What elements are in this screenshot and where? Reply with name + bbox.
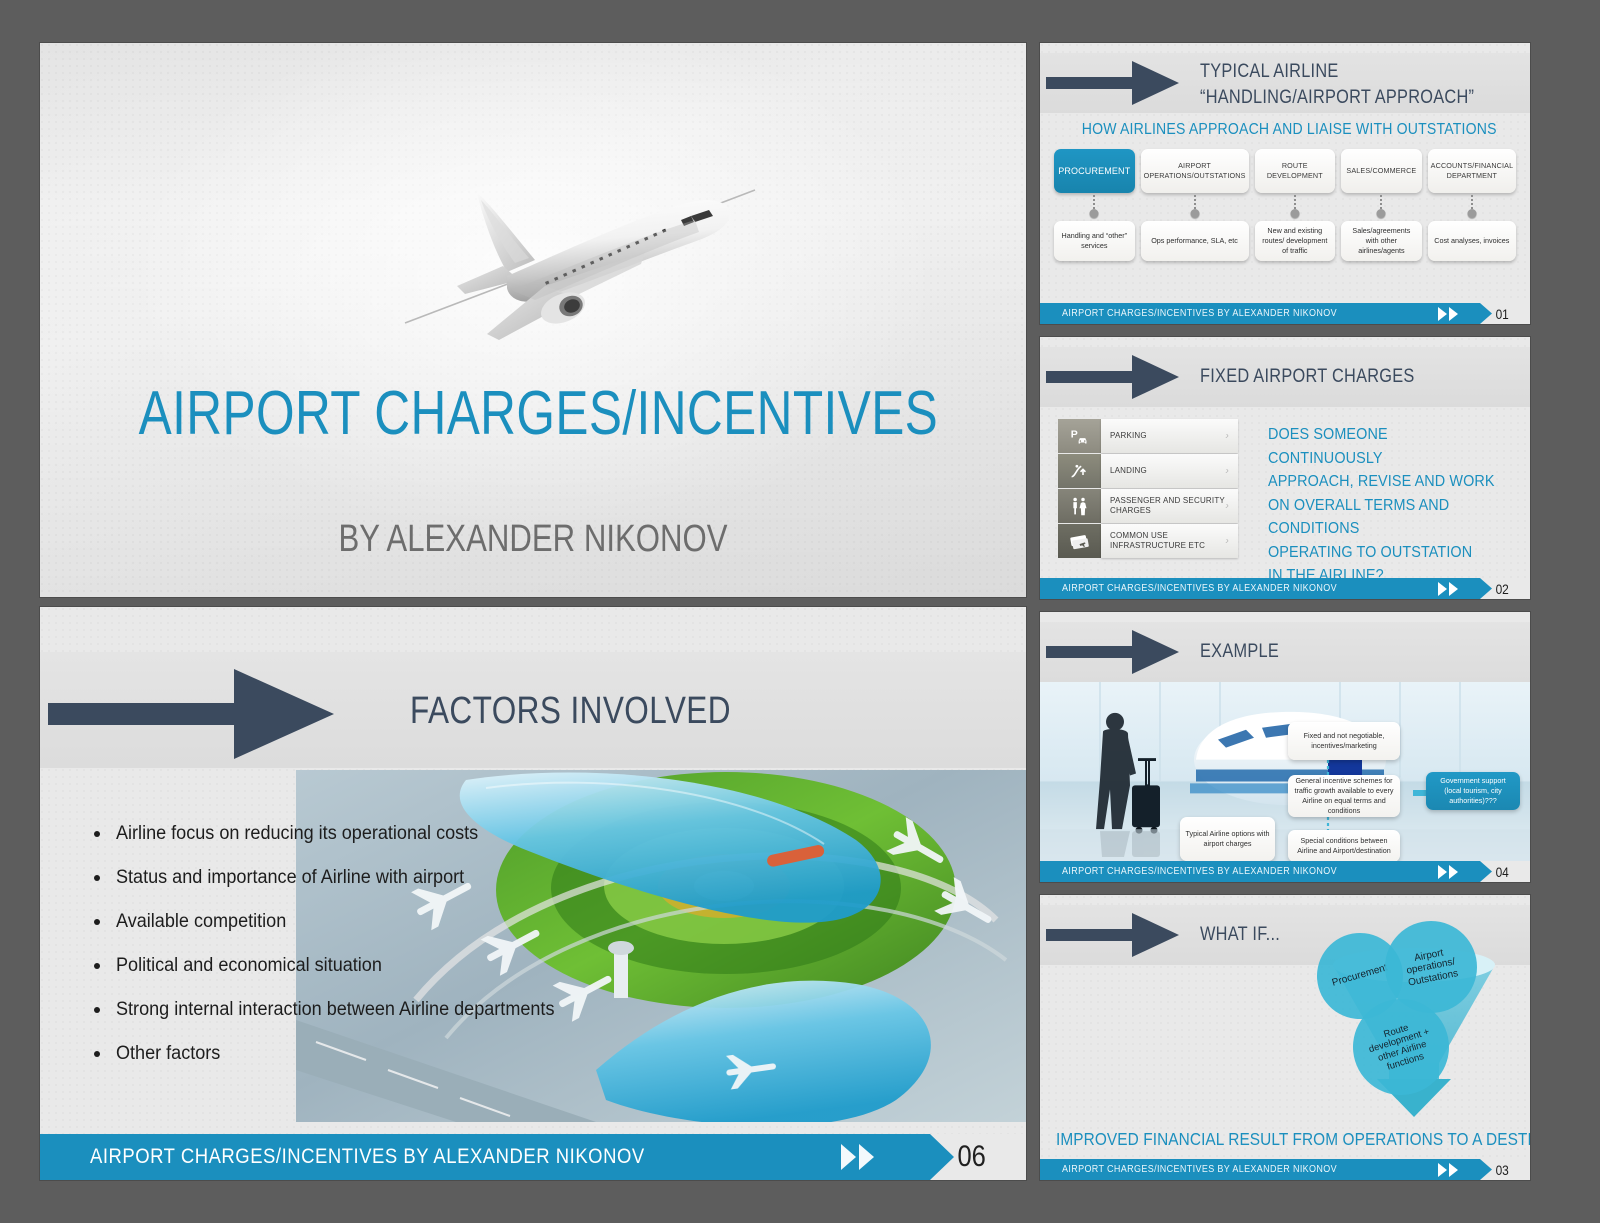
list-item: Available competition — [58, 900, 578, 944]
chevron-right-icon — [841, 1144, 874, 1170]
funnel-diagram: Procurement Airport operations/ Outstati… — [1305, 921, 1520, 1121]
dotted-connector-icon — [1428, 193, 1516, 221]
page-title: WHAT IF... — [1200, 922, 1280, 948]
flow-box-secondary[interactable]: New and existing routes/ development of … — [1255, 221, 1336, 261]
arrow-right-icon — [1046, 630, 1181, 674]
example-box-special-conditions[interactable]: Special conditions between Airline and A… — [1288, 830, 1400, 862]
flow-box-primary[interactable]: SALES/COMMERCE — [1341, 149, 1422, 193]
footer-title: AIRPORT CHARGES/INCENTIVES BY ALEXANDER … — [1062, 1164, 1337, 1175]
page-title-line2: “HANDLING/AIRPORT APPROACH” — [1200, 85, 1474, 111]
example-box-general-incentive[interactable]: General incentive schemes for traffic gr… — [1288, 775, 1400, 817]
list-item-label: Strong internal interaction between Airl… — [116, 999, 554, 1021]
question-line: DOES SOMEONE CONTINUOUSLY — [1268, 423, 1502, 470]
airplane-illustration — [395, 148, 765, 363]
slide-example[interactable]: EXAMPLE Typical Airline options with air… — [1040, 612, 1530, 882]
slide-footer: AIRPORT CHARGES/INCENTIVES BY ALEXANDER … — [1040, 578, 1530, 599]
example-box-typical[interactable]: Typical Airline options with airport cha… — [1180, 817, 1275, 861]
dotted-connector-icon — [1054, 193, 1135, 221]
slide-title[interactable]: AIRPORT CHARGES/INCENTIVES BY ALEXANDER … — [40, 43, 1026, 597]
list-item-label: LANDING — [1110, 466, 1147, 476]
flow-box-secondary[interactable]: Sales/agreements with other airlines/age… — [1341, 221, 1422, 261]
slide-number-badge: 02 — [1468, 578, 1530, 599]
bullet-dot-icon — [94, 1051, 100, 1057]
factors-bullet-list: Airline focus on reducing its operationa… — [58, 812, 578, 1076]
footer-title: AIRPORT CHARGES/INCENTIVES BY ALEXANDER … — [90, 1145, 645, 1169]
slide-what-if[interactable]: WHAT IF... Procurement Airport — [1040, 895, 1530, 1180]
list-item-label: Other factors — [116, 1043, 220, 1065]
dotted-connector-icon — [1341, 193, 1422, 221]
footer-title: AIRPORT CHARGES/INCENTIVES BY ALEXANDER … — [1062, 583, 1337, 594]
question-line: APPROACH, REVISE AND WORK — [1268, 470, 1502, 494]
section-subtitle: HOW AIRLINES APPROACH AND LIAISE WITH OU… — [1082, 121, 1489, 139]
page-title-line1: TYPICAL AIRLINE — [1200, 59, 1474, 85]
arrow-right-icon — [1046, 355, 1181, 399]
slide-number-badge: 01 — [1468, 303, 1530, 324]
example-box-government-support[interactable]: Government support (local tourism, city … — [1426, 772, 1520, 810]
bullet-dot-icon — [94, 831, 100, 837]
slide-footer: AIRPORT CHARGES/INCENTIVES BY ALEXANDER … — [1040, 861, 1530, 882]
arrow-right-icon — [1046, 61, 1181, 105]
slide-typical-airline[interactable]: TYPICAL AIRLINE “HANDLING/AIRPORT APPROA… — [1040, 43, 1530, 324]
list-item-label: Political and economical situation — [116, 955, 382, 977]
slide-factors-involved[interactable]: FACTORS INVOLVED Airline focus on reduci… — [40, 607, 1026, 1180]
presentation-author: BY ALEXANDER NIKONOV — [129, 518, 938, 561]
dotted-connector-icon — [1255, 193, 1336, 221]
list-item: Airline focus on reducing its operationa… — [58, 812, 578, 856]
dotted-connector-icon — [1141, 193, 1249, 221]
list-item[interactable]: PASSENGER AND SECURITY CHARGES › — [1058, 489, 1238, 523]
chevron-right-icon — [1438, 582, 1458, 596]
result-statement: IMPROVED FINANCIAL RESULT FROM OPERATION… — [1056, 1129, 1461, 1150]
flow-box-primary[interactable]: ACCOUNTS/FINANCIAL DEPARTMENT — [1428, 149, 1516, 193]
question-line: OPERATING TO OUTSTATION — [1268, 541, 1502, 565]
svg-text:P: P — [1071, 428, 1078, 440]
question-text: DOES SOMEONE CONTINUOUSLY APPROACH, REVI… — [1268, 423, 1502, 588]
list-item[interactable]: P PARKING › — [1058, 419, 1238, 453]
flow-column: SALES/COMMERCE Sales/agreements with oth… — [1341, 149, 1422, 261]
flow-box-primary[interactable]: AIRPORT OPERATIONS/OUTSTATIONS — [1141, 149, 1249, 193]
list-item-label: Available competition — [116, 911, 286, 933]
presentation-title: AIRPORT CHARGES/INCENTIVES — [139, 378, 928, 449]
flow-column: PROCUREMENT Handling and “other” service… — [1054, 149, 1135, 261]
list-item: Political and economical situation — [58, 944, 578, 988]
boarding-pass-icon — [1058, 524, 1101, 558]
page-title: EXAMPLE — [1200, 639, 1279, 665]
flow-column: ROUTE DEVELOPMENT New and existing route… — [1255, 149, 1336, 261]
list-item-label: PASSENGER AND SECURITY CHARGES — [1110, 496, 1238, 517]
question-line: ON OVERALL TERMS AND CONDITIONS — [1268, 494, 1502, 541]
arrow-right-icon — [48, 669, 338, 759]
list-item: Other factors — [58, 1032, 578, 1076]
slide-number-badge: 06 — [906, 1134, 1026, 1180]
escalator-icon — [1058, 454, 1101, 488]
slide-number: 03 — [1489, 1162, 1509, 1178]
charges-menu-list: P PARKING › — [1058, 419, 1238, 559]
slide-footer: AIRPORT CHARGES/INCENTIVES BY ALEXANDER … — [1040, 1159, 1530, 1180]
list-item-label: Status and importance of Airline with ai… — [116, 867, 464, 889]
footer-title: AIRPORT CHARGES/INCENTIVES BY ALEXANDER … — [1062, 866, 1337, 877]
list-item: Strong internal interaction between Airl… — [58, 988, 578, 1032]
chevron-right-icon: › — [1225, 465, 1229, 478]
slide-number: 02 — [1489, 581, 1509, 597]
example-box-fixed[interactable]: Fixed and not negotiable, incentives/mar… — [1288, 722, 1400, 760]
list-item[interactable]: LANDING › — [1058, 454, 1238, 488]
chevron-right-icon: › — [1225, 430, 1229, 443]
chevron-right-icon — [1438, 865, 1458, 879]
list-item-label-wrap: COMMON USE INFRASTRUCTURE ETC › — [1101, 524, 1238, 558]
parking-car-icon: P — [1058, 419, 1101, 453]
slide-number-badge: 03 — [1468, 1159, 1530, 1180]
flow-box-secondary[interactable]: Cost analyses, invoices — [1428, 221, 1516, 261]
list-item-label: PARKING — [1110, 431, 1147, 441]
page-title: FIXED AIRPORT CHARGES — [1200, 364, 1415, 390]
page-title: TYPICAL AIRLINE “HANDLING/AIRPORT APPROA… — [1200, 59, 1474, 110]
list-item[interactable]: COMMON USE INFRASTRUCTURE ETC › — [1058, 524, 1238, 558]
flow-box-primary[interactable]: PROCUREMENT — [1054, 149, 1135, 193]
bullet-dot-icon — [94, 875, 100, 881]
restroom-people-icon — [1058, 489, 1101, 523]
flow-column: ACCOUNTS/FINANCIAL DEPARTMENT Cost analy… — [1428, 149, 1516, 261]
bullet-dot-icon — [94, 963, 100, 969]
list-item-label-wrap: PARKING › — [1101, 419, 1238, 453]
page-title: FACTORS INVOLVED — [410, 690, 731, 733]
flow-box-secondary[interactable]: Ops performance, SLA, etc — [1141, 221, 1249, 261]
list-item-label: Airline focus on reducing its operationa… — [116, 823, 478, 845]
list-item-label: COMMON USE INFRASTRUCTURE ETC — [1110, 531, 1238, 552]
flow-box-primary[interactable]: ROUTE DEVELOPMENT — [1255, 149, 1336, 193]
flow-box-secondary[interactable]: Handling and “other” services — [1054, 221, 1135, 261]
list-item-label-wrap: LANDING › — [1101, 454, 1238, 488]
slide-deck-overview: AIRPORT CHARGES/INCENTIVES BY ALEXANDER … — [0, 0, 1600, 1223]
bullet-dot-icon — [94, 919, 100, 925]
slide-footer: AIRPORT CHARGES/INCENTIVES BY ALEXANDER … — [1040, 303, 1530, 324]
list-item-label-wrap: PASSENGER AND SECURITY CHARGES › — [1101, 489, 1238, 523]
chevron-right-icon: › — [1225, 535, 1229, 548]
slide-number: 04 — [1489, 864, 1509, 880]
bullet-dot-icon — [94, 1007, 100, 1013]
slide-footer: AIRPORT CHARGES/INCENTIVES BY ALEXANDER … — [40, 1134, 1026, 1180]
slide-number: 06 — [946, 1140, 986, 1174]
footer-title: AIRPORT CHARGES/INCENTIVES BY ALEXANDER … — [1062, 308, 1337, 319]
slide-fixed-airport-charges[interactable]: FIXED AIRPORT CHARGES P PARKING › — [1040, 337, 1530, 599]
flow-column: AIRPORT OPERATIONS/OUTSTATIONS Ops perfo… — [1141, 149, 1249, 261]
slide-number-badge: 04 — [1468, 861, 1530, 882]
list-item: Status and importance of Airline with ai… — [58, 856, 578, 900]
chevron-right-icon: › — [1225, 500, 1229, 513]
chevron-right-icon — [1438, 307, 1458, 321]
chevron-right-icon — [1438, 1163, 1458, 1177]
slide-number: 01 — [1489, 306, 1509, 322]
department-flow-grid: PROCUREMENT Handling and “other” service… — [1054, 149, 1516, 261]
arrow-right-icon — [1046, 913, 1181, 957]
